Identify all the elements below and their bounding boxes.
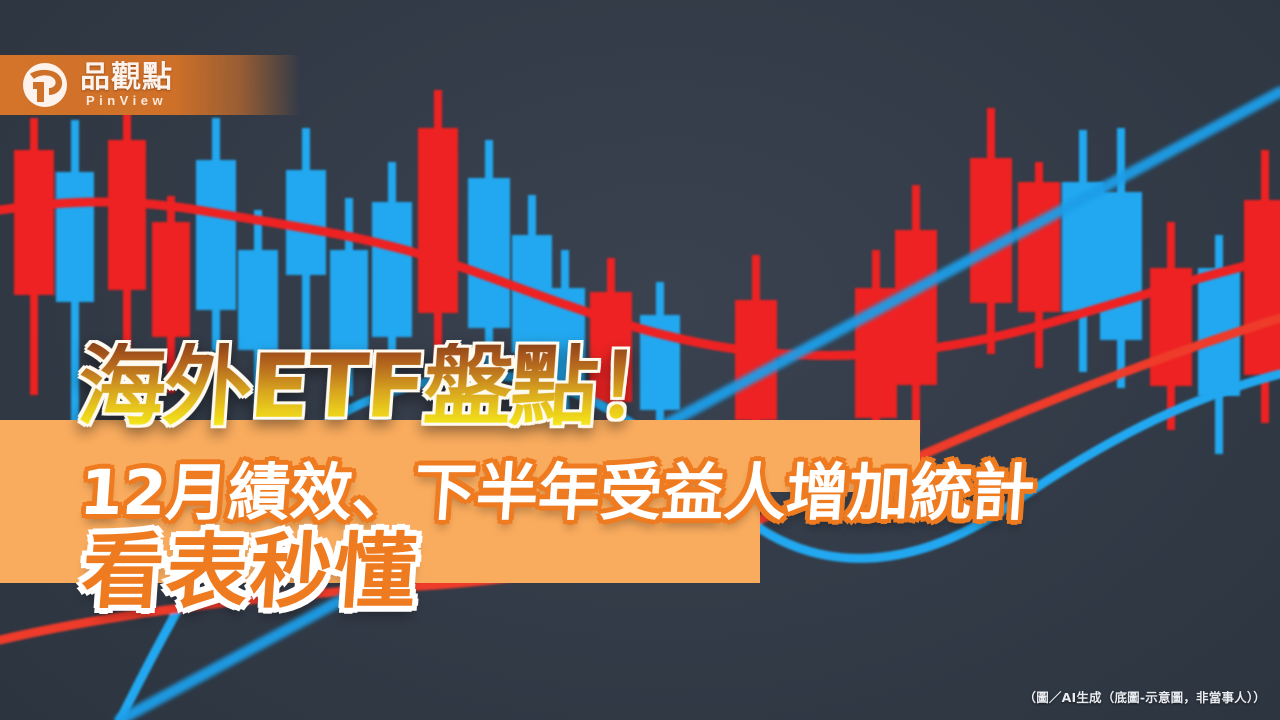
- candle: [108, 98, 146, 382]
- brand-logo-bar[interactable]: 品觀點 PinView: [0, 55, 300, 115]
- candle: [286, 128, 326, 351]
- candle: [196, 118, 236, 351]
- candle: [56, 120, 94, 426]
- brand-logo-text: 品觀點 PinView: [80, 63, 173, 107]
- candle: [1062, 130, 1104, 372]
- pinview-p-logo-icon: [22, 62, 68, 108]
- brand-name-en: PinView: [80, 94, 173, 107]
- candlestick-series: [14, 90, 1280, 462]
- candle: [1018, 162, 1060, 368]
- candle: [1150, 222, 1192, 430]
- candle: [238, 210, 278, 408]
- headline-panel-lower: [0, 492, 760, 583]
- candle: [152, 196, 190, 393]
- candle: [372, 162, 412, 391]
- candle: [330, 198, 368, 396]
- candle: [895, 185, 937, 433]
- candle: [418, 90, 458, 367]
- poster-canvas: 海外ETF盤點！ 12月績效、下半年受益人增加統計 看表秒懂 品觀點 PinVi…: [0, 0, 1280, 720]
- headline-panel-upper: [0, 420, 920, 492]
- candle: [970, 108, 1012, 354]
- image-credit-caption: （圖／AI生成（底圖-示意圖，非當事人））: [1024, 687, 1266, 706]
- candle: [14, 118, 54, 395]
- candle: [468, 140, 510, 378]
- brand-name-cn: 品觀點: [80, 63, 173, 93]
